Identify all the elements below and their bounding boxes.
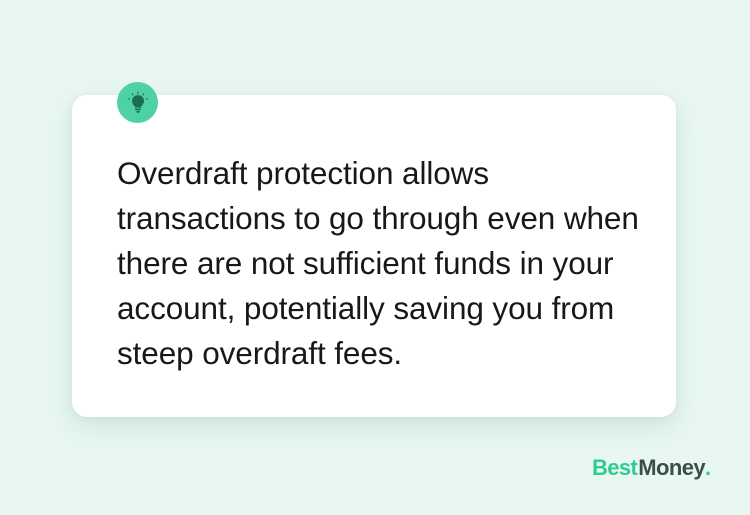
lightbulb-icon-badge [117, 82, 158, 123]
logo-period: . [705, 456, 711, 480]
slide-canvas: Overdraft protection allows transactions… [0, 0, 750, 515]
lightbulb-icon [126, 91, 150, 115]
tip-card: Overdraft protection allows transactions… [72, 95, 676, 417]
bestmoney-logo: Best Money . [592, 456, 711, 480]
tip-body-text: Overdraft protection allows transactions… [117, 151, 657, 376]
logo-text-best: Best [592, 456, 637, 480]
logo-text-money: Money [638, 456, 705, 480]
